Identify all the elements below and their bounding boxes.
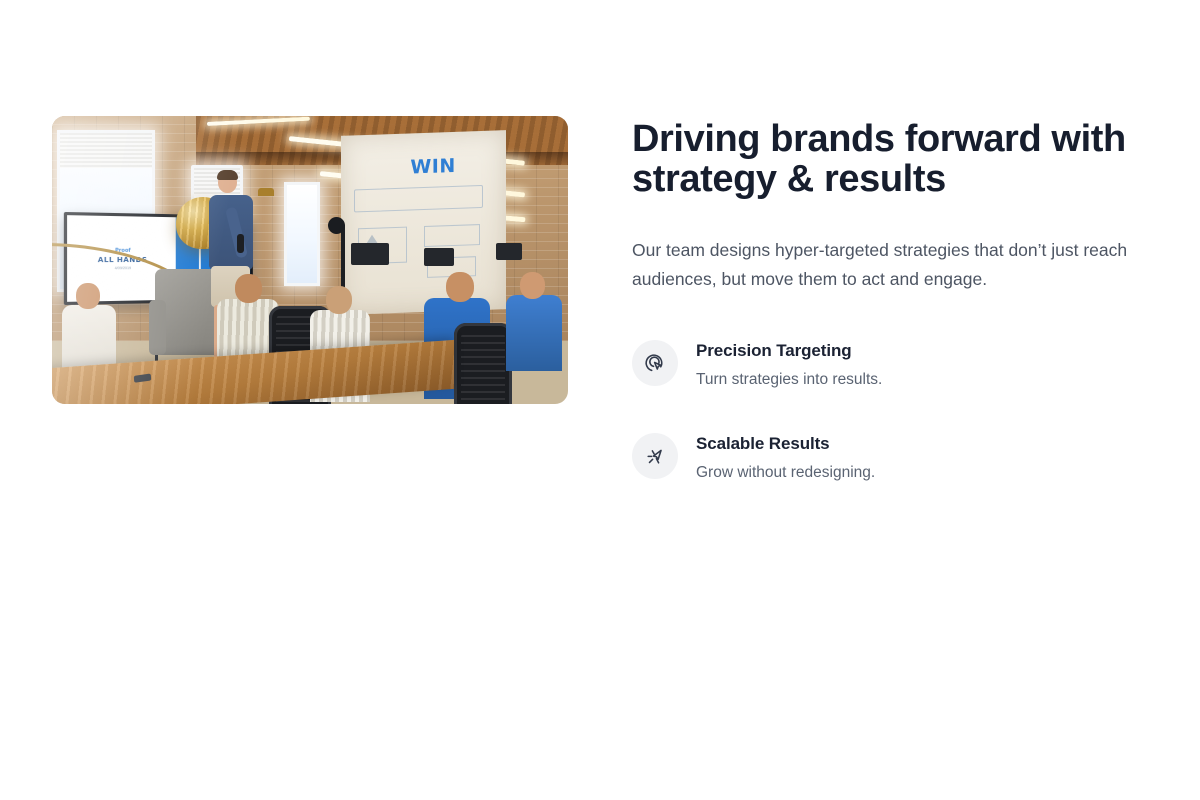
hero-subheading: Our team designs hyper-targeted strategi… <box>632 236 1148 294</box>
speaker <box>328 217 345 234</box>
lamp-cap <box>258 188 274 196</box>
desk-monitor <box>351 243 389 265</box>
window <box>284 182 320 286</box>
feature-description: Grow without redesigning. <box>696 462 875 483</box>
mural-win-text: WIN <box>410 155 455 179</box>
feature-description: Turn strategies into results. <box>696 369 882 390</box>
microphone <box>237 234 244 253</box>
feature-title: Precision Targeting <box>696 340 882 362</box>
page-title: Driving brands forward with strategy & r… <box>632 119 1132 199</box>
hero-section: WIN <box>52 116 1148 483</box>
hero-copy-column: Driving brands forward with strategy & r… <box>632 116 1148 483</box>
mural-sketch <box>424 224 480 247</box>
hero-image: WIN <box>52 116 568 404</box>
scale-arrow-icon <box>632 433 678 479</box>
feature-item-precision-targeting: Precision Targeting Turn strategies into… <box>632 339 1148 390</box>
feature-item-scalable-results: Scalable Results Grow without redesignin… <box>632 432 1148 483</box>
office-chair <box>454 323 512 404</box>
feature-text: Precision Targeting Turn strategies into… <box>696 339 882 390</box>
landing-page: WIN <box>0 0 1200 800</box>
feature-title: Scalable Results <box>696 433 875 455</box>
office-presentation-photo: WIN <box>52 116 568 404</box>
feature-list: Precision Targeting Turn strategies into… <box>632 339 1148 483</box>
feature-text: Scalable Results Grow without redesignin… <box>696 432 875 483</box>
audience-member <box>506 272 562 370</box>
mural-sketch <box>354 185 483 213</box>
desk-monitor <box>496 243 522 260</box>
presenter-hair <box>217 170 238 180</box>
desk-monitor <box>424 248 454 266</box>
cursor-target-icon <box>632 340 678 386</box>
hero-media-column: WIN <box>52 116 568 404</box>
window-blind <box>60 133 152 167</box>
